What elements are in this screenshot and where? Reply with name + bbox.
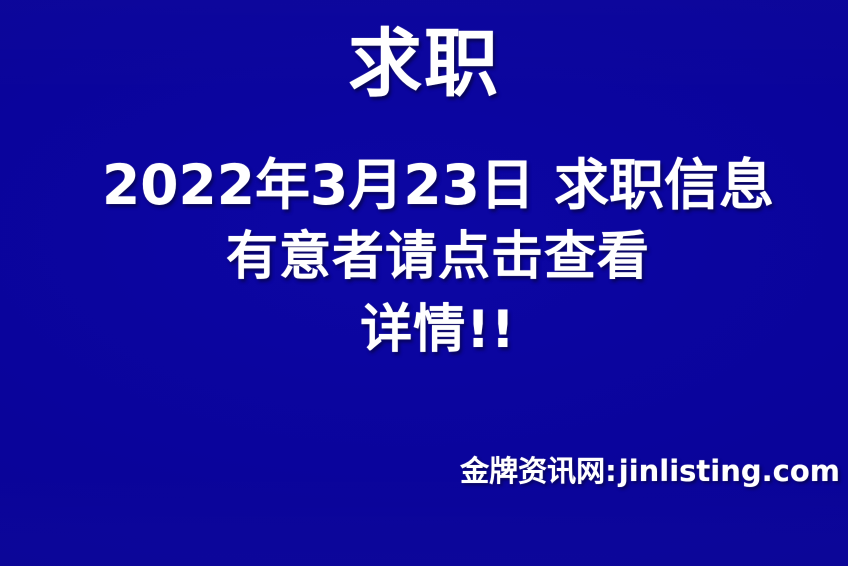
body-line-date-info: 2022年3月23日 求职信息 — [0, 150, 848, 220]
body-line-details: 详情!! — [0, 294, 848, 366]
job-listing-poster: 求职 2022年3月23日 求职信息 有意者请点击查看 详情!! 金牌资讯网:j… — [0, 0, 848, 566]
poster-body: 2022年3月23日 求职信息 有意者请点击查看 详情!! — [0, 150, 848, 366]
footer-site-url: jinlisting.com — [619, 454, 840, 488]
page-title: 求职 — [0, 27, 848, 101]
footer-site-name: 金牌资讯网: — [460, 454, 617, 488]
footer-attribution: 金牌资讯网:jinlisting.com — [460, 448, 840, 490]
body-line-call-to-action: 有意者请点击查看 — [0, 220, 848, 294]
